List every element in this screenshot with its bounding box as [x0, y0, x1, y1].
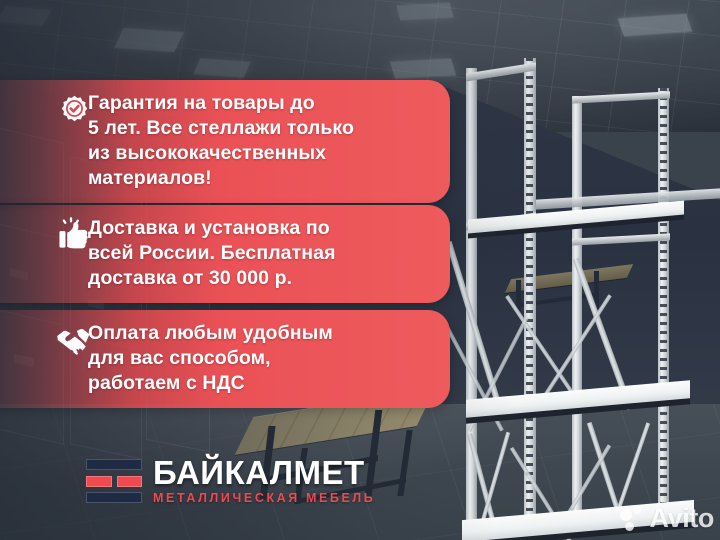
feature-banner-payment: Оплата любым удобным для вас способом, р…	[0, 310, 450, 408]
avito-label: Avito	[650, 505, 715, 532]
thumbs-up-icon	[56, 217, 92, 255]
logo-mark-row-bottom	[86, 492, 142, 503]
banner-text: Оплата любым удобным для вас способом, р…	[88, 321, 333, 396]
logo-square-red	[86, 476, 112, 487]
bench-leg	[397, 430, 412, 496]
logo-square-red	[117, 476, 143, 487]
avito-watermark: Avito	[620, 505, 715, 532]
logo-mark-icon	[86, 459, 142, 503]
banner-text: Доставка и установка по всей России. Бес…	[88, 216, 336, 291]
avito-dots-icon	[620, 506, 646, 532]
feature-banner-delivery: Доставка и установка по всей России. Бес…	[0, 205, 450, 303]
brand-logo: БАЙКАЛМЕТ МЕТАЛЛИЧЕСКАЯ МЕБЕЛЬ	[86, 456, 375, 506]
rack-post-perforation	[526, 58, 533, 540]
rack-beam	[572, 91, 670, 103]
logo-mark-row-top	[86, 459, 142, 470]
brand-tagline: МЕТАЛЛИЧЕСКАЯ МЕБЕЛЬ	[153, 490, 375, 506]
banner-text: Гарантия на товары до 5 лет. Все стеллаж…	[88, 91, 354, 191]
metal-shelving-rack	[452, 58, 720, 540]
brand-name: БАЙКАЛМЕТ	[153, 456, 375, 489]
logo-bar	[86, 459, 142, 470]
logo-mark-row-middle	[86, 476, 142, 487]
feature-banner-warranty: Гарантия на товары до 5 лет. Все стеллаж…	[0, 80, 450, 203]
rack-post-perforation	[660, 88, 667, 528]
logo-wordmark: БАЙКАЛМЕТ МЕТАЛЛИЧЕСКАЯ МЕБЕЛЬ	[153, 456, 375, 506]
verified-badge-icon	[56, 94, 92, 132]
logo-bar	[86, 492, 142, 503]
rack-beam	[572, 233, 670, 245]
handshake-icon	[56, 326, 92, 364]
rack-post	[572, 96, 582, 526]
promo-image: Гарантия на товары до 5 лет. Все стеллаж…	[0, 0, 720, 540]
